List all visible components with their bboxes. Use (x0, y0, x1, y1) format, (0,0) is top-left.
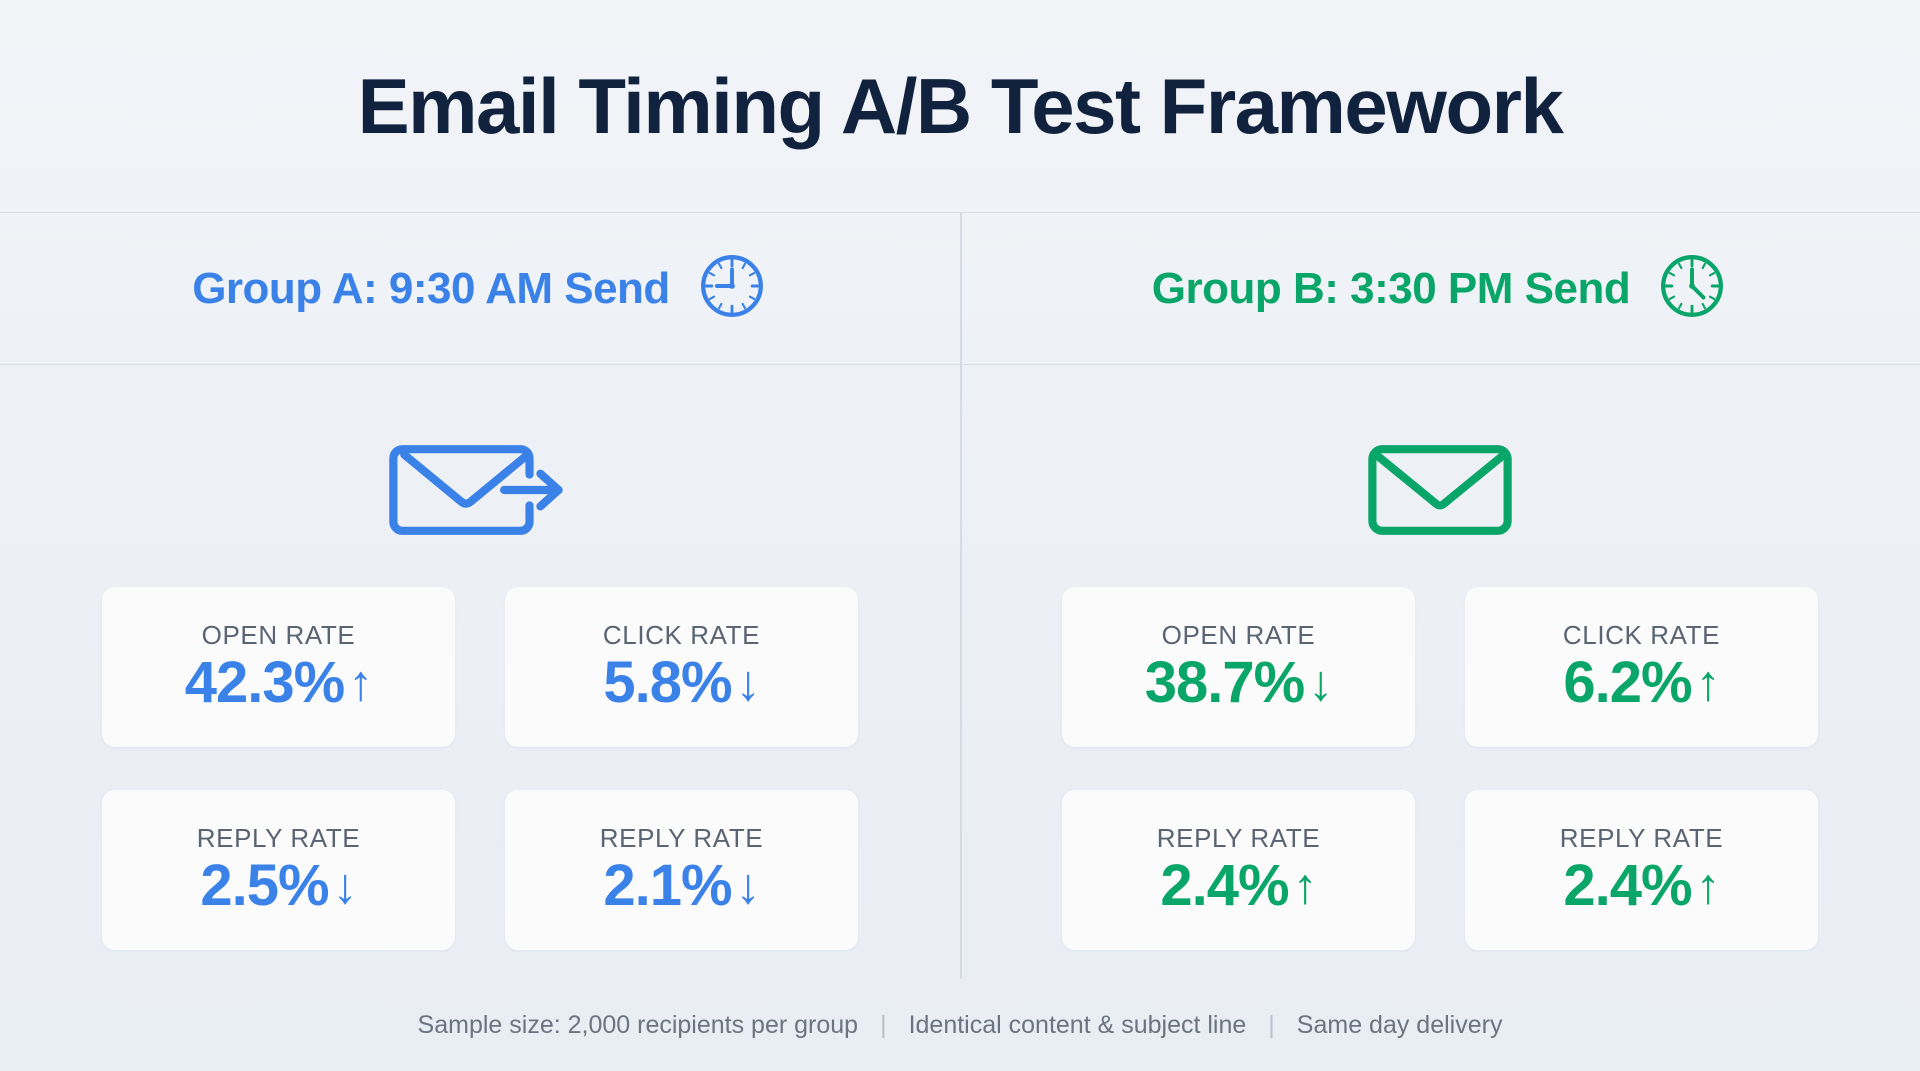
metric-card: REPLY RATE 2.4% ↑ (1465, 790, 1818, 950)
envelope-send-icon (388, 405, 573, 575)
metric-value-row: 2.5% ↓ (200, 856, 356, 917)
metric-label: CLICK RATE (603, 620, 760, 651)
trend-arrow-icon: ↑ (1293, 861, 1317, 911)
footer-delivery-note: Same day delivery (1297, 1011, 1503, 1040)
metric-value-row: 5.8% ↓ (603, 653, 759, 714)
trend-arrow-icon: ↑ (348, 658, 372, 708)
infographic-page: Email Timing A/B Test Framework Group A:… (0, 0, 1920, 1071)
clock-icon (696, 250, 768, 327)
metric-label: OPEN RATE (1162, 620, 1316, 651)
metric-card: OPEN RATE 42.3% ↑ (102, 587, 455, 747)
metric-card: CLICK RATE 6.2% ↑ (1465, 587, 1818, 747)
metric-card: REPLY RATE 2.5% ↓ (102, 790, 455, 950)
metric-label: REPLY RATE (1560, 823, 1724, 854)
trend-arrow-icon: ↑ (1696, 658, 1720, 708)
title-band: Email Timing A/B Test Framework (0, 0, 1920, 212)
footer-separator: | (1268, 1011, 1275, 1040)
metric-value: 5.8% (603, 653, 731, 714)
group-a-column: OPEN RATE 42.3% ↑ CLICK RATE 5.8% ↓ REPL… (0, 365, 960, 979)
group-b-label: Group B: 3:30 PM Send (1152, 264, 1630, 314)
trend-arrow-icon: ↓ (736, 658, 760, 708)
trend-arrow-icon: ↓ (736, 861, 760, 911)
footer-content-note: Identical content & subject line (909, 1011, 1247, 1040)
metric-value-row: 6.2% ↑ (1563, 653, 1719, 714)
group-header-row: Group A: 9:30 AM Send (0, 212, 1920, 365)
group-body-row: OPEN RATE 42.3% ↑ CLICK RATE 5.8% ↓ REPL… (0, 365, 1920, 979)
trend-arrow-icon: ↑ (1696, 861, 1720, 911)
group-a-metric-cards: OPEN RATE 42.3% ↑ CLICK RATE 5.8% ↓ REPL… (102, 587, 858, 950)
metric-value: 6.2% (1563, 653, 1691, 714)
page-title: Email Timing A/B Test Framework (358, 67, 1563, 145)
clock-icon (1656, 250, 1728, 327)
metric-card: REPLY RATE 2.4% ↑ (1062, 790, 1415, 950)
metric-value: 38.7% (1145, 653, 1304, 714)
footer-sample-size: Sample size: 2,000 recipients per group (418, 1011, 859, 1040)
metric-value: 2.1% (603, 856, 731, 917)
footer-separator: | (880, 1011, 887, 1040)
group-header-a: Group A: 9:30 AM Send (0, 213, 960, 364)
metric-value-row: 2.4% ↑ (1160, 856, 1316, 917)
column-divider (960, 213, 962, 364)
group-header-b: Group B: 3:30 PM Send (960, 213, 1920, 364)
envelope-icon (1365, 405, 1515, 575)
metric-card: REPLY RATE 2.1% ↓ (505, 790, 858, 950)
metric-label: OPEN RATE (202, 620, 356, 651)
metric-value: 42.3% (185, 653, 344, 714)
footer-note: Sample size: 2,000 recipients per group … (0, 979, 1920, 1071)
metric-label: REPLY RATE (600, 823, 764, 854)
metric-label: REPLY RATE (1157, 823, 1321, 854)
metric-label: CLICK RATE (1563, 620, 1720, 651)
trend-arrow-icon: ↓ (333, 861, 357, 911)
metric-value: 2.4% (1563, 856, 1691, 917)
column-divider (960, 365, 962, 979)
metric-value-row: 2.4% ↑ (1563, 856, 1719, 917)
metric-value: 2.5% (200, 856, 328, 917)
metric-value-row: 38.7% ↓ (1145, 653, 1332, 714)
metric-value: 2.4% (1160, 856, 1288, 917)
group-b-column: OPEN RATE 38.7% ↓ CLICK RATE 6.2% ↑ REPL… (960, 365, 1920, 979)
group-b-metric-cards: OPEN RATE 38.7% ↓ CLICK RATE 6.2% ↑ REPL… (1062, 587, 1818, 950)
metric-value-row: 42.3% ↑ (185, 653, 372, 714)
trend-arrow-icon: ↓ (1308, 658, 1332, 708)
group-a-label: Group A: 9:30 AM Send (192, 264, 670, 314)
metric-value-row: 2.1% ↓ (603, 856, 759, 917)
metric-card: OPEN RATE 38.7% ↓ (1062, 587, 1415, 747)
metric-card: CLICK RATE 5.8% ↓ (505, 587, 858, 747)
metric-label: REPLY RATE (197, 823, 361, 854)
